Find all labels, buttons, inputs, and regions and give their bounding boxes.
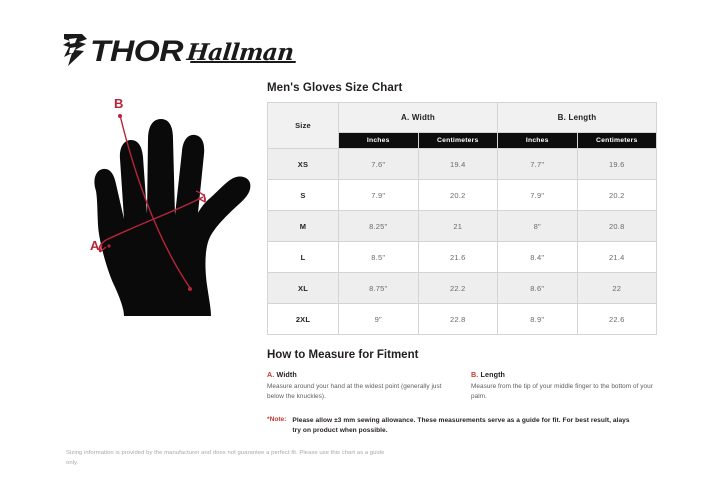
cell-size: XL <box>268 273 339 304</box>
cell-width-centimeters: 22.8 <box>418 304 498 335</box>
how-to-item-length-heading: B. Length <box>471 370 657 379</box>
sewing-allowance-note: *Note: Please allow ±3 mm sewing allowan… <box>267 416 659 437</box>
cell-length-inches: 8.4" <box>498 242 578 273</box>
cell-size: 2XL <box>268 304 339 335</box>
cell-length-inches: 8" <box>498 211 578 242</box>
cell-length-inches: 7.7" <box>498 149 578 180</box>
cell-length-inches: 7.9" <box>498 180 578 211</box>
note-text: Please allow ±3 mm sewing allowance. The… <box>292 416 637 437</box>
cell-length-inches: 8.9" <box>498 304 578 335</box>
cell-width-centimeters: 21 <box>418 211 498 242</box>
table-row: XL 8.75" 22.2 8.6" 22 <box>268 273 657 304</box>
column-header-width-centimeters: Centimeters <box>418 132 498 148</box>
disclaimer-text: Sizing information is provided by the ma… <box>66 448 396 469</box>
glove-measurement-diagram: A B <box>62 95 267 320</box>
cell-length-centimeters: 22 <box>577 273 657 304</box>
table-row: 2XL 9" 22.8 8.9" 22.6 <box>268 304 657 335</box>
measure-label-a: A <box>90 238 100 253</box>
how-to-item-length-mark: B. <box>471 370 478 379</box>
thor-logo: THOR <box>62 33 173 72</box>
cell-width-inches: 8.25" <box>339 211 419 242</box>
size-chart-table: Size A. Width B. Length Inches Centimete… <box>267 102 657 335</box>
cell-length-centimeters: 19.6 <box>577 149 657 180</box>
cell-width-centimeters: 22.2 <box>418 273 498 304</box>
thor-wordmark: THOR <box>90 37 183 67</box>
column-header-size: Size <box>268 103 339 149</box>
cell-length-centimeters: 21.4 <box>577 242 657 273</box>
page-title: Men's Gloves Size Chart <box>267 82 659 94</box>
cell-width-centimeters: 19.4 <box>418 149 498 180</box>
cell-length-inches: 8.6" <box>498 273 578 304</box>
cell-width-inches: 7.6" <box>339 149 419 180</box>
how-to-item-length-name: Length <box>481 370 506 379</box>
cell-size: M <box>268 211 339 242</box>
how-to-item-width-name: Width <box>277 370 297 379</box>
cell-length-centimeters: 22.6 <box>577 304 657 335</box>
cell-length-centimeters: 20.2 <box>577 180 657 211</box>
cell-width-inches: 8.75" <box>339 273 419 304</box>
how-to-item-width-heading: A. Width <box>267 370 453 379</box>
cell-width-inches: 7.9" <box>339 180 419 211</box>
cell-length-centimeters: 20.8 <box>577 211 657 242</box>
column-group-width: A. Width <box>339 103 498 133</box>
cell-width-inches: 8.5" <box>339 242 419 273</box>
table-row: L 8.5" 21.6 8.4" 21.4 <box>268 242 657 273</box>
column-header-length-centimeters: Centimeters <box>577 132 657 148</box>
hallman-wordmark: Hallman <box>186 41 295 64</box>
how-to-item-length: B. Length Measure from the tip of your m… <box>471 370 657 403</box>
cell-width-centimeters: 20.2 <box>418 180 498 211</box>
thor-mark-icon <box>62 33 88 72</box>
how-to-measure-section: How to Measure for Fitment A. Width Meas… <box>267 349 659 437</box>
cell-width-centimeters: 21.6 <box>418 242 498 273</box>
table-row: S 7.9" 20.2 7.9" 20.2 <box>268 180 657 211</box>
note-label: *Note: <box>267 416 286 423</box>
table-row: M 8.25" 21 8" 20.8 <box>268 211 657 242</box>
table-row: XS 7.6" 19.4 7.7" 19.6 <box>268 149 657 180</box>
cell-size: XS <box>268 149 339 180</box>
column-group-length: B. Length <box>498 103 657 133</box>
how-to-item-width: A. Width Measure around your hand at the… <box>267 370 453 403</box>
table-header-group-row: Size A. Width B. Length <box>268 103 657 133</box>
how-to-item-length-body: Measure from the tip of your middle fing… <box>471 382 657 403</box>
glove-silhouette-icon <box>94 119 250 316</box>
cell-size: L <box>268 242 339 273</box>
column-header-width-inches: Inches <box>339 132 419 148</box>
size-chart-panel: Men's Gloves Size Chart Size A. Width B.… <box>267 82 659 437</box>
how-to-item-width-mark: A. <box>267 370 274 379</box>
cell-width-inches: 9" <box>339 304 419 335</box>
how-to-measure-title: How to Measure for Fitment <box>267 349 659 361</box>
cell-size: S <box>268 180 339 211</box>
measure-label-b: B <box>114 96 123 111</box>
brand-logo-row: THOR Hallman <box>62 30 294 74</box>
how-to-item-width-body: Measure around your hand at the widest p… <box>267 382 453 403</box>
column-header-length-inches: Inches <box>498 132 578 148</box>
